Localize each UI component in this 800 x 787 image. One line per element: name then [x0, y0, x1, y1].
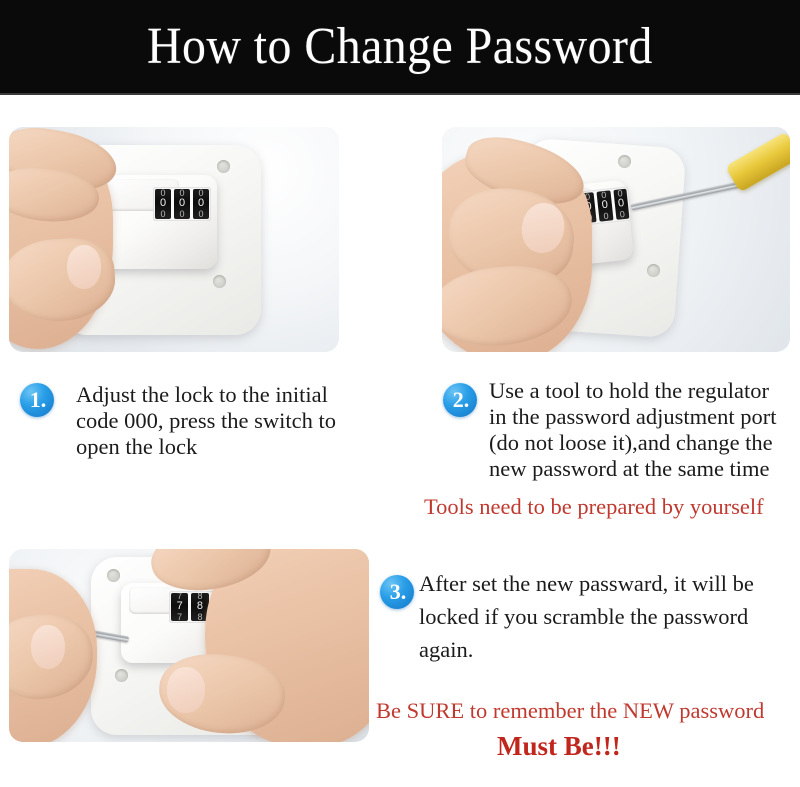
dial-current-digit: 0 — [179, 198, 185, 209]
screw-hole-icon — [107, 569, 120, 582]
step-1-badge: 1. — [20, 383, 54, 417]
dial-upper-digit: 7 — [177, 593, 182, 601]
step-2-number: 2. — [451, 389, 470, 411]
dial-upper-digit: 0 — [160, 189, 165, 198]
step-2-line-4: new password at the same time — [489, 456, 770, 482]
dial-lower-digit: 0 — [603, 211, 609, 221]
step-2-line-2: in the password adjustment port — [489, 404, 776, 430]
step-1-line-2: code 000, press the switch to — [76, 408, 336, 434]
step-3-number: 3. — [388, 581, 407, 603]
dial-upper-digit: 0 — [198, 189, 203, 198]
dial-current-digit: 0 — [160, 198, 166, 209]
dial-digit[interactable]: 0 0 0 — [613, 189, 629, 220]
screw-hole-icon — [213, 275, 226, 288]
page-header-band: How to Change Password — [0, 0, 800, 95]
dial-digit[interactable]: 7 7 7 — [171, 593, 188, 621]
screw-hole-icon — [647, 264, 660, 277]
dial-upper-digit: 0 — [617, 189, 623, 199]
dial-digit[interactable]: 0 0 0 — [597, 190, 613, 221]
dial-current-digit: 0 — [198, 198, 204, 209]
dial-window: 0 0 0 0 0 0 0 0 0 — [153, 187, 211, 221]
page-title: How to Change Password — [147, 21, 653, 73]
step-3-line-1: After set the new passward, it will be — [419, 571, 754, 597]
step-3-line-3: again. — [419, 637, 473, 663]
screw-hole-icon — [217, 160, 230, 173]
step-2-line-1: Use a tool to hold the regulator — [489, 378, 769, 404]
fingernail — [167, 667, 205, 713]
step-1-number: 1. — [28, 389, 47, 411]
dial-upper-digit: 0 — [601, 191, 607, 201]
must-be-note: Must Be!!! — [497, 733, 621, 760]
dial-digit[interactable]: 0 0 0 — [155, 189, 171, 219]
dial-current-digit: 8 — [197, 601, 203, 612]
dial-upper-digit: 8 — [197, 593, 202, 601]
photo-step-2: 0 0 0 0 0 0 0 0 0 — [442, 127, 790, 352]
fingernail — [31, 625, 65, 669]
dial-lower-digit: 0 — [198, 210, 203, 219]
step-3-badge: 3. — [380, 575, 414, 609]
photo-step-3: 7 7 7 8 8 8 6 6 6 — [9, 549, 369, 742]
step-2-badge: 2. — [443, 383, 477, 417]
screw-hole-icon — [618, 155, 631, 168]
tools-note: Tools need to be prepared by yourself — [424, 494, 764, 520]
remember-note: Be SURE to remember the NEW password — [376, 698, 764, 724]
instruction-page: How to Change Password 0 0 0 0 0 0 0 0 — [0, 0, 800, 787]
dial-digit[interactable]: 0 0 0 — [174, 189, 190, 219]
dial-lower-digit: 0 — [179, 210, 184, 219]
step-1-line-3: open the lock — [76, 434, 197, 460]
dial-lower-digit: 0 — [160, 210, 165, 219]
fingernail — [67, 245, 101, 289]
dial-lower-digit: 7 — [177, 613, 182, 621]
dial-digit[interactable]: 0 0 0 — [193, 189, 209, 219]
screw-hole-icon — [115, 669, 128, 682]
dial-lower-digit: 8 — [197, 613, 202, 621]
step-1-line-1: Adjust the lock to the initial — [76, 382, 328, 408]
step-3-line-2: locked if you scramble the password — [419, 604, 748, 630]
dial-lower-digit: 0 — [619, 210, 625, 220]
step-2-line-3: (do not loose it),and change the — [489, 430, 773, 456]
dial-current-digit: 7 — [177, 601, 183, 612]
photo-step-1: 0 0 0 0 0 0 0 0 0 — [9, 127, 339, 352]
dial-upper-digit: 0 — [179, 189, 184, 198]
